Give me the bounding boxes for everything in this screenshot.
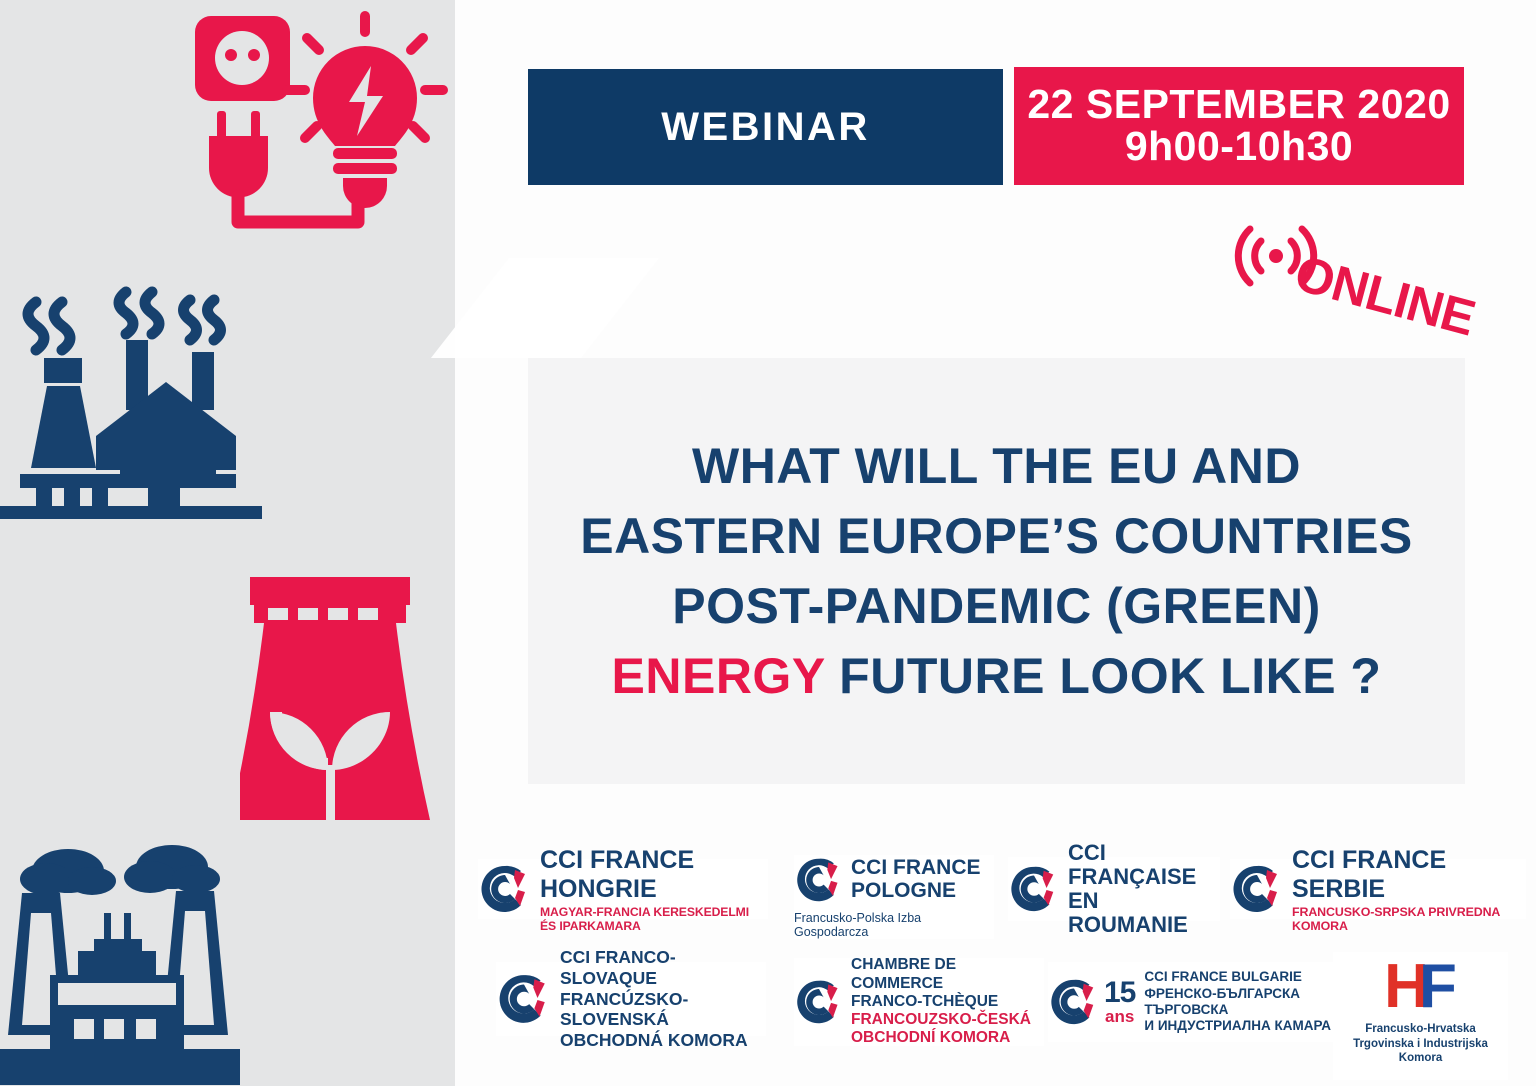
cci-circle-mark-icon [794, 855, 844, 905]
title-line-3: POST-PANDEMIC (GREEN) [672, 574, 1321, 638]
logo-subtitle: Francusko-Polska Izba Gospodarcza [794, 911, 994, 939]
logo-subtitle: FRANCUSKO-SRPSKA PRIVREDNA KOMORA [1292, 905, 1526, 933]
logo-chambre-franco-tcheque: CHAMBRE DE COMMERCE FRANCO-TCHÈQUE FRANC… [794, 958, 1044, 1046]
title-line-4: ENERGY FUTURE LOOK LIKE ? [612, 644, 1382, 708]
logo-title-line-3: OBCHODNÁ KOMORA [560, 1030, 766, 1051]
logo-title-line-2: FRANCO-TCHÈQUE [851, 993, 1044, 1011]
hf-caption-line-3: Komora [1353, 1051, 1488, 1066]
logo-cci-france-pologne: CCI FRANCE POLOGNE Francusko-Polska Izba… [794, 855, 994, 939]
factory-smokestacks-icon [0, 272, 262, 527]
title-line-4-rest: FUTURE LOOK LIKE ? [825, 648, 1382, 704]
hf-letter-f: F [1419, 958, 1457, 1015]
event-date: 22 SEPTEMBER 2020 [1027, 84, 1450, 126]
logo-title: CCI FRANCE HONGRIE [540, 846, 768, 904]
partner-logos-row-2: CCI FRANCO-SLOVAQUE FRANCÚZSKO-SLOVENSKÁ… [478, 950, 1528, 1080]
logo-title-line-2: FRANCÚZSKO-SLOVENSKÁ [560, 989, 766, 1030]
title-line-1: WHAT WILL THE EU AND [692, 434, 1301, 498]
logo-title: CCI FRANCE SERBIE [1292, 846, 1526, 904]
webinar-title-block: WHAT WILL THE EU AND EASTERN EUROPE’S CO… [528, 358, 1465, 784]
online-badge: ONLINE [1222, 208, 1472, 328]
logo-title-line-4: OBCHODNÍ KOMORA [851, 1029, 1044, 1047]
logo-title-line-3: FRANCOUZSKO-ČESKÁ [851, 1011, 1044, 1029]
cci-circle-mark-icon [1048, 976, 1100, 1028]
logo-title-line-2: ФРЕНСКО-БЪЛГАРСКА [1144, 986, 1331, 1002]
logo-subtitle: MAGYAR-FRANCIA KERESKEDELMI ÉS IPARKAMAR… [540, 905, 768, 933]
logo-cci-france-serbie: CCI FRANCE SERBIE FRANCUSKO-SRPSKA PRIVR… [1230, 859, 1526, 919]
hf-monogram-icon: H F [1384, 958, 1457, 1018]
logo-cci-prefix: CCI [1144, 969, 1167, 984]
partner-logos-row-1: CCI FRANCE HONGRIE MAGYAR-FRANCIA KERESK… [478, 855, 1528, 940]
logo-cci-france-hongrie: CCI FRANCE HONGRIE MAGYAR-FRANCIA KERESK… [478, 859, 768, 919]
logo-title-line-4: И ИНДУСТРИАЛНА КАМАРА [1144, 1018, 1331, 1034]
webinar-badge: WEBINAR [528, 69, 1003, 185]
anniversary-mark: 15 ans [1104, 979, 1135, 1025]
date-time-badge: 22 SEPTEMBER 2020 9h00-10h30 [1014, 67, 1464, 185]
online-label: ONLINE [1289, 244, 1481, 347]
logo-title-line-2: POLOGNE [851, 880, 981, 903]
title-line-2: EASTERN EUROPE’S COUNTRIES [580, 504, 1413, 568]
power-socket-plug-lightbulb-icon [175, 8, 455, 258]
logo-title-line-2: EN ROUMANIE [1068, 889, 1220, 937]
event-time: 9h00-10h30 [1125, 126, 1353, 168]
logo-cci-francaise-en-roumanie: CCI FRANÇAISE EN ROUMANIE [1008, 857, 1220, 921]
webinar-label: WEBINAR [661, 105, 870, 150]
title-accent-energy: ENERGY [612, 648, 825, 704]
logo-title-line-1: CCI FRANCE [851, 857, 981, 880]
hf-caption-line-1: Francusko-Hrvatska [1353, 1022, 1488, 1037]
cci-circle-mark-icon [1230, 862, 1284, 916]
decorative-diagonal-sheen [431, 258, 659, 358]
hf-caption: Francusko-Hrvatska Trgovinska i Industri… [1353, 1022, 1488, 1066]
power-plant-clouds-icon [0, 835, 272, 1085]
logo-title-rest: FRANCE BULGARIE [1168, 969, 1302, 984]
logo-cci-franco-slovaque: CCI FRANCO-SLOVAQUE FRANCÚZSKO-SLOVENSKÁ… [496, 962, 766, 1036]
anniversary-word: ans [1105, 1008, 1134, 1025]
webinar-poster: WEBINAR 22 SEPTEMBER 2020 9h00-10h30 ONL… [0, 0, 1536, 1086]
logo-francusko-hrvatska-komora: H F Francusko-Hrvatska Trgovinska i Indu… [1333, 952, 1508, 1080]
green-energy-cooling-tower-leaf-icon [240, 565, 455, 820]
anniversary-number: 15 [1104, 979, 1135, 1008]
logo-cci-france-bulgarie: 15 ans CCI FRANCE BULGARIE ФРЕНСКО-БЪЛГА… [1048, 962, 1338, 1042]
cci-circle-mark-icon [496, 971, 552, 1027]
cci-circle-mark-icon [1008, 863, 1060, 915]
cci-circle-mark-icon [794, 977, 844, 1027]
logo-title-line-1: CHAMBRE DE COMMERCE [851, 956, 1044, 993]
cci-circle-mark-icon [478, 862, 532, 916]
logo-title-line-1: CCI FRANCO-SLOVAQUE [560, 947, 766, 988]
logo-title-line-1: CCI FRANÇAISE [1068, 841, 1220, 889]
hf-caption-line-2: Trgovinska i Industrijska [1353, 1037, 1488, 1052]
logo-title-line-1: CCI FRANCE BULGARIE [1144, 969, 1331, 985]
illustration-panel [0, 0, 455, 1086]
logo-title-line-3: ТЪРГОВСКА [1144, 1002, 1331, 1018]
logo-cci-prefix: CCI [560, 947, 590, 967]
